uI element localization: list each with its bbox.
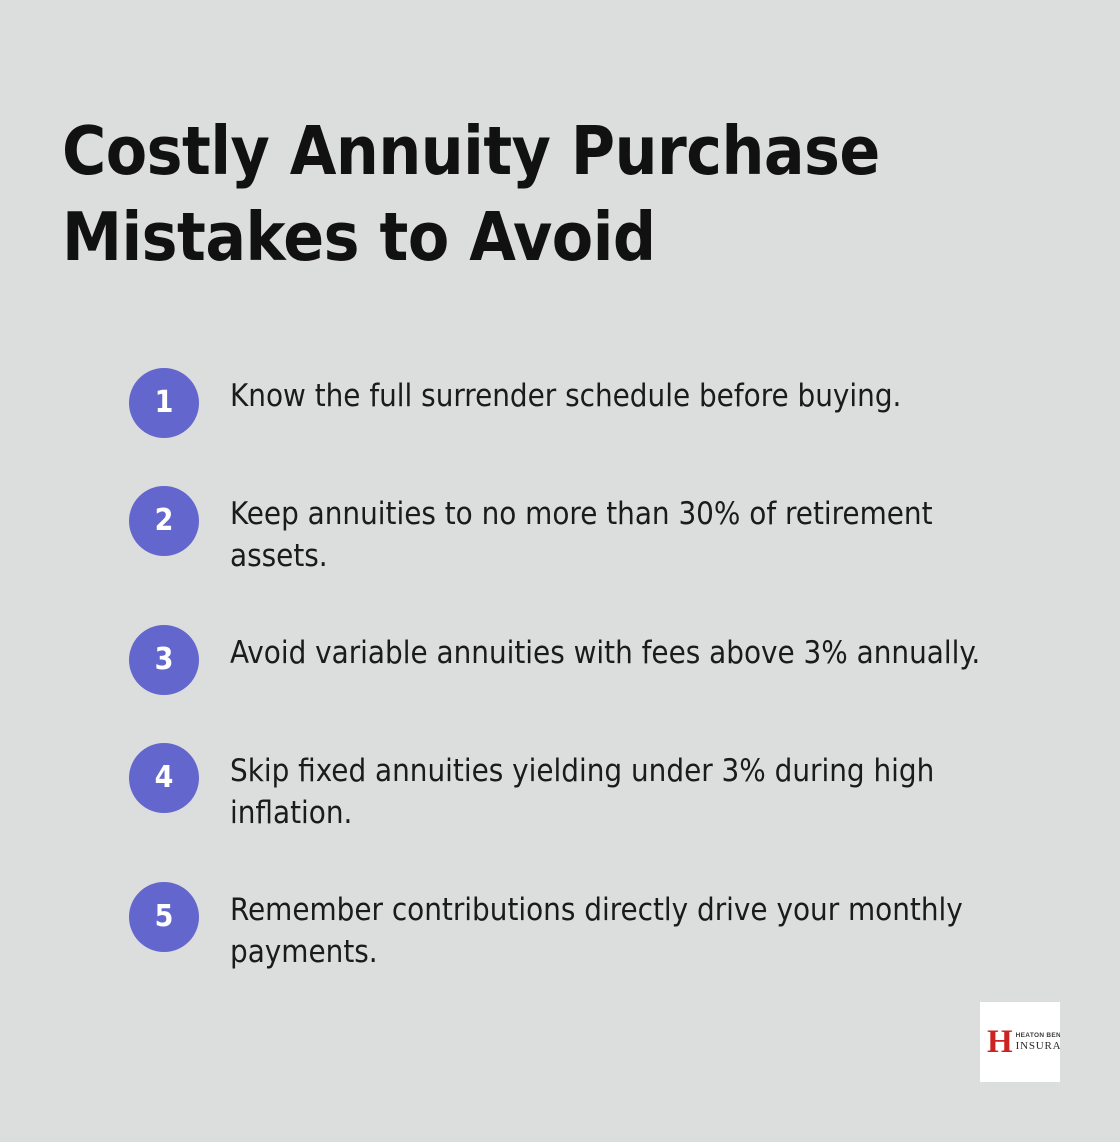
list-item-text: Avoid variable annuities with fees above… — [230, 625, 1030, 674]
infographic-canvas: Costly Annuity Purchase Mistakes to Avoi… — [0, 0, 1120, 1142]
list-item: 1 Know the full surrender schedule befor… — [129, 368, 1059, 438]
title-block: Costly Annuity Purchase Mistakes to Avoi… — [62, 108, 922, 280]
logo-company-type: INSURANCE — [1016, 1040, 1060, 1053]
brand-logo: H HEATON BENNETT INSURANCE — [980, 1002, 1060, 1082]
list-item: 2 Keep annuities to no more than 30% of … — [129, 486, 1059, 577]
list-item: 3 Avoid variable annuities with fees abo… — [129, 625, 1059, 695]
list-item-number-badge: 5 — [129, 882, 199, 952]
page-title: Costly Annuity Purchase Mistakes to Avoi… — [62, 108, 922, 280]
logo-monogram-icon: H — [987, 1026, 1013, 1059]
list-item-number-badge: 2 — [129, 486, 199, 556]
logo-wordmark: HEATON BENNETT INSURANCE — [1016, 1031, 1060, 1053]
list-item-text: Know the full surrender schedule before … — [230, 368, 1030, 417]
list-item-number-badge: 3 — [129, 625, 199, 695]
list-item-number-badge: 4 — [129, 743, 199, 813]
logo-inner: H HEATON BENNETT INSURANCE — [980, 1026, 1060, 1059]
list-item: 4 Skip fixed annuities yielding under 3%… — [129, 743, 1059, 834]
list-item-text: Keep annuities to no more than 30% of re… — [230, 486, 1030, 577]
list-item: 5 Remember contributions directly drive … — [129, 882, 1059, 973]
list-item-number-badge: 1 — [129, 368, 199, 438]
logo-company-name: HEATON BENNETT — [1016, 1031, 1060, 1040]
list-item-text: Remember contributions directly drive yo… — [230, 882, 1030, 973]
numbered-tips-list: 1 Know the full surrender schedule befor… — [129, 368, 1059, 973]
list-item-text: Skip fixed annuities yielding under 3% d… — [230, 743, 1030, 834]
